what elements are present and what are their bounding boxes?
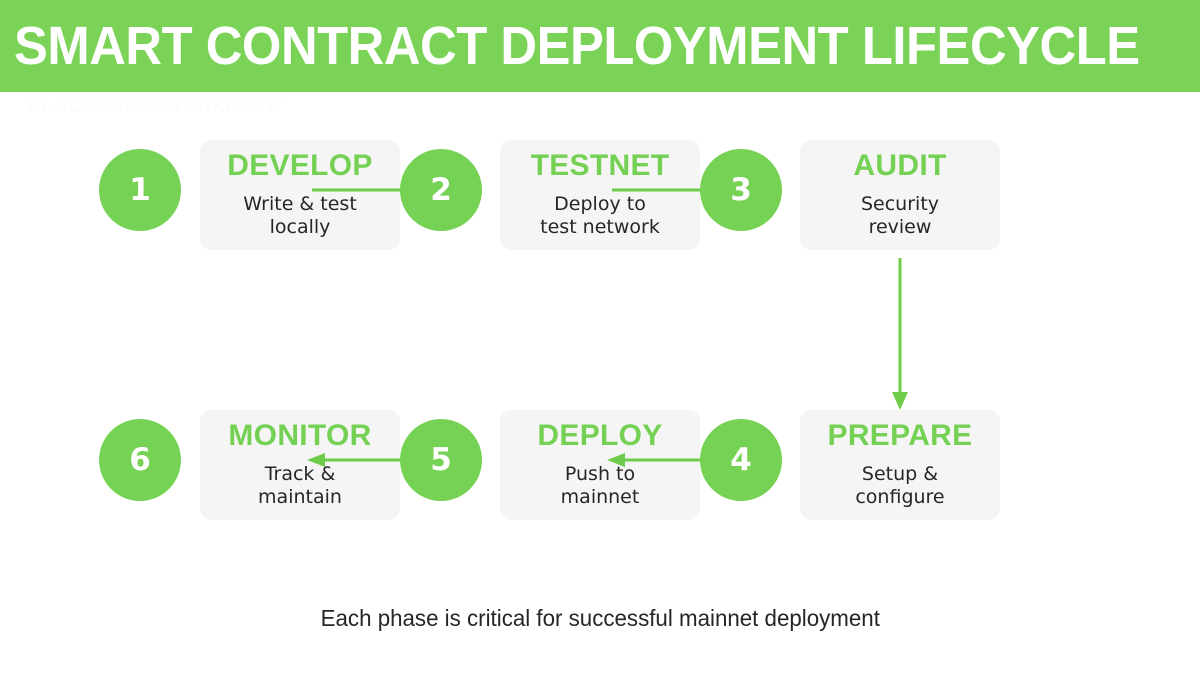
step-circle-5[interactable]: 5	[400, 419, 482, 501]
phase-title-develop: DEVELOP	[200, 151, 400, 181]
step-circle-2-label: 2	[430, 175, 452, 206]
step-circle-3[interactable]: 3	[700, 149, 782, 231]
lifecycle-diagram: 1 DEVELOP Write & test locally 2 TESTNET…	[0, 0, 1200, 700]
phase-desc-audit: Security review	[806, 193, 994, 239]
phase-desc-prepare: Setup & configure	[806, 463, 994, 509]
footer-note-text: Each phase is critical for successful ma…	[320, 605, 879, 632]
phase-title-deploy: DEPLOY	[500, 421, 700, 451]
phase-box-prepare[interactable]: PREPARE Setup & configure	[800, 410, 1000, 520]
phase-desc-develop-line2: locally	[206, 216, 394, 239]
phase-title-monitor: MONITOR	[200, 421, 400, 451]
phase-title-prepare: PREPARE	[800, 421, 1000, 451]
phase-desc-prepare-line2: configure	[806, 486, 994, 509]
step-circle-6[interactable]: 6	[99, 419, 181, 501]
step-circle-5-label: 5	[430, 445, 452, 476]
step-circle-1-label: 1	[129, 175, 151, 206]
step-circle-1[interactable]: 1	[99, 149, 181, 231]
step-circle-4[interactable]: 4	[700, 419, 782, 501]
step-circle-6-label: 6	[129, 445, 151, 476]
step-circle-4-label: 4	[730, 445, 752, 476]
phase-desc-audit-line1: Security	[806, 193, 994, 216]
phase-box-audit[interactable]: AUDIT Security review	[800, 140, 1000, 250]
phase-title-audit: AUDIT	[800, 151, 1000, 181]
phase-desc-testnet-line2: test network	[506, 216, 694, 239]
step-circle-2[interactable]: 2	[400, 149, 482, 231]
phase-desc-monitor-line2: maintain	[206, 486, 394, 509]
phase-desc-prepare-line1: Setup &	[806, 463, 994, 486]
phase-desc-audit-line2: review	[806, 216, 994, 239]
phase-title-testnet: TESTNET	[500, 151, 700, 181]
footer-note: Each phase is critical for successful ma…	[0, 605, 1200, 632]
step-circle-3-label: 3	[730, 175, 752, 206]
arrow-audit-to-prepare	[888, 258, 912, 410]
phase-desc-deploy-line2: mainnet	[506, 486, 694, 509]
